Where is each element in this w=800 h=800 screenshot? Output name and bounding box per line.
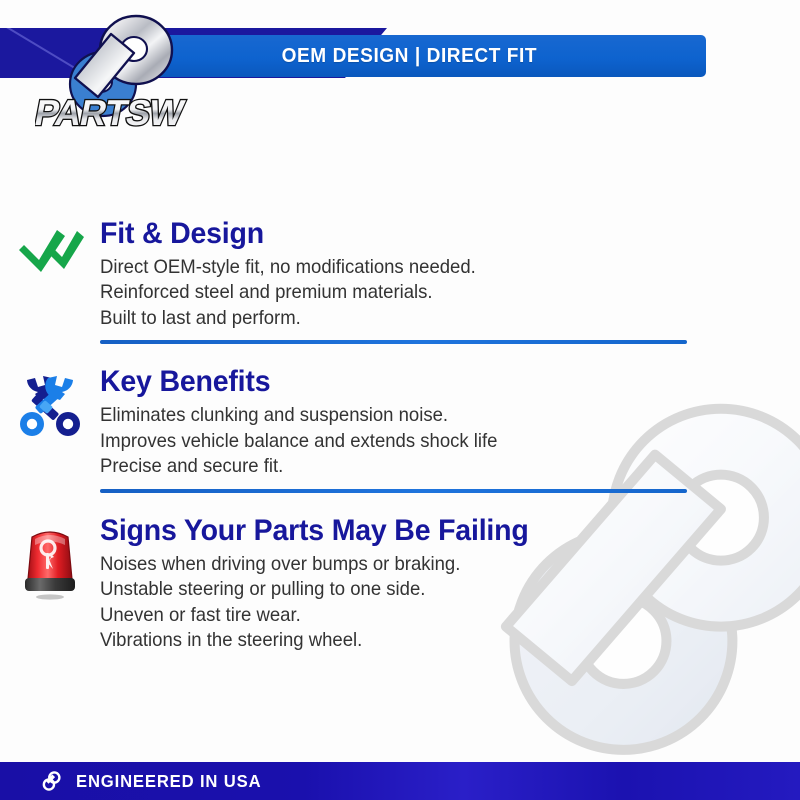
partsw-logo[interactable]: PARTSW	[35, 12, 250, 137]
double-check-icon	[0, 218, 100, 276]
section-signs-body: Signs Your Parts May Be Failing Noises w…	[100, 515, 800, 654]
section-fit-and-design: Fit & Design Direct OEM-style fit, no mo…	[0, 150, 800, 344]
footer-text: ENGINEERED IN USA	[76, 771, 261, 792]
section-title: Fit & Design	[100, 218, 708, 250]
section-fit-body: Fit & Design Direct OEM-style fit, no mo…	[100, 218, 800, 344]
product-infographic-page: OEM DESIGN | DIRECT FIT	[0, 0, 800, 800]
section-line: Noises when driving over bumps or brakin…	[100, 552, 708, 578]
page-footer: ENGINEERED IN USA	[0, 762, 800, 800]
section-line: Improves vehicle balance and extends sho…	[100, 429, 708, 455]
page-header: OEM DESIGN | DIRECT FIT	[0, 0, 800, 150]
section-line: Unstable steering or pulling to one side…	[100, 577, 708, 603]
section-line: Direct OEM-style fit, no modifications n…	[100, 255, 708, 281]
section-line: Reinforced steel and premium materials.	[100, 280, 708, 306]
section-title: Key Benefits	[100, 366, 708, 398]
section-key-body: Key Benefits Eliminates clunking and sus…	[100, 366, 800, 492]
section-line: Eliminates clunking and suspension noise…	[100, 403, 708, 429]
section-key-benefits: Key Benefits Eliminates clunking and sus…	[0, 344, 800, 492]
section-line: Uneven or fast tire wear.	[100, 603, 708, 629]
section-failure-signs: Signs Your Parts May Be Failing Noises w…	[0, 493, 800, 654]
section-line: Built to last and perform.	[100, 306, 708, 332]
feature-sections: Fit & Design Direct OEM-style fit, no mo…	[0, 150, 800, 654]
crossed-wrenches-icon	[0, 366, 100, 438]
banner-title: OEM DESIGN | DIRECT FIT	[281, 44, 536, 68]
logo-wordmark-text: PARTSW	[35, 92, 188, 133]
warning-beacon-icon	[0, 515, 100, 601]
section-title: Signs Your Parts May Be Failing	[100, 515, 708, 547]
section-line: Precise and secure fit.	[100, 454, 708, 480]
partsw-p-mark-icon	[42, 771, 62, 791]
section-line: Vibrations in the steering wheel.	[100, 628, 708, 654]
